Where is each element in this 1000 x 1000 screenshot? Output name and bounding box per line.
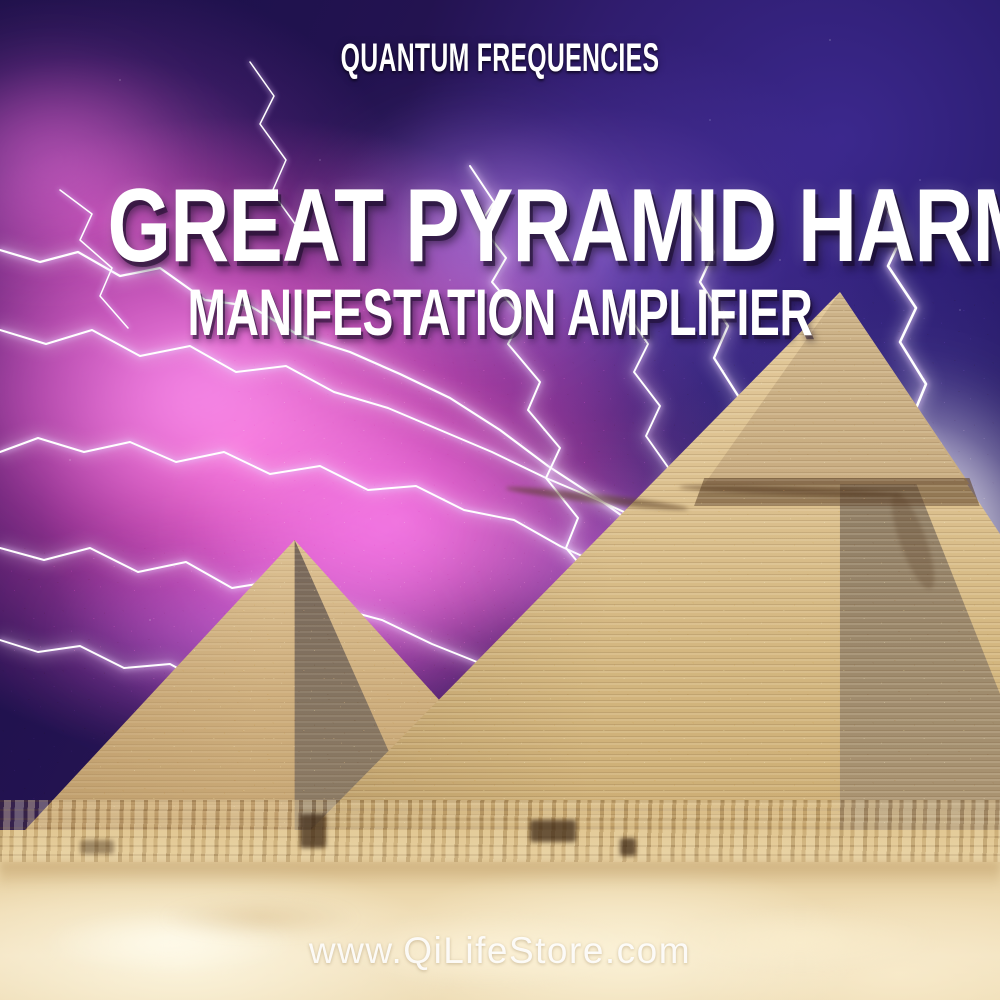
ruins-rubble-band [0, 800, 1000, 862]
ruin-opening [620, 838, 636, 856]
desert-sand-foreground [0, 830, 1000, 1000]
ruin-opening [530, 820, 576, 842]
eyebrow-text: QUANTUM FREQUENCIES [190, 38, 810, 78]
sand-ridge [0, 862, 1000, 888]
page-title: GREAT PYRAMID HARMONICS [108, 174, 893, 278]
footer-website-url: www.QiLifeStore.com [0, 932, 1000, 969]
page-subtitle: MANIFESTATION AMPLIFIER [150, 279, 850, 345]
ruin-opening [80, 840, 114, 854]
poster-canvas: QUANTUM FREQUENCIES GREAT PYRAMID HARMON… [0, 0, 1000, 1000]
ruin-opening [300, 814, 326, 848]
